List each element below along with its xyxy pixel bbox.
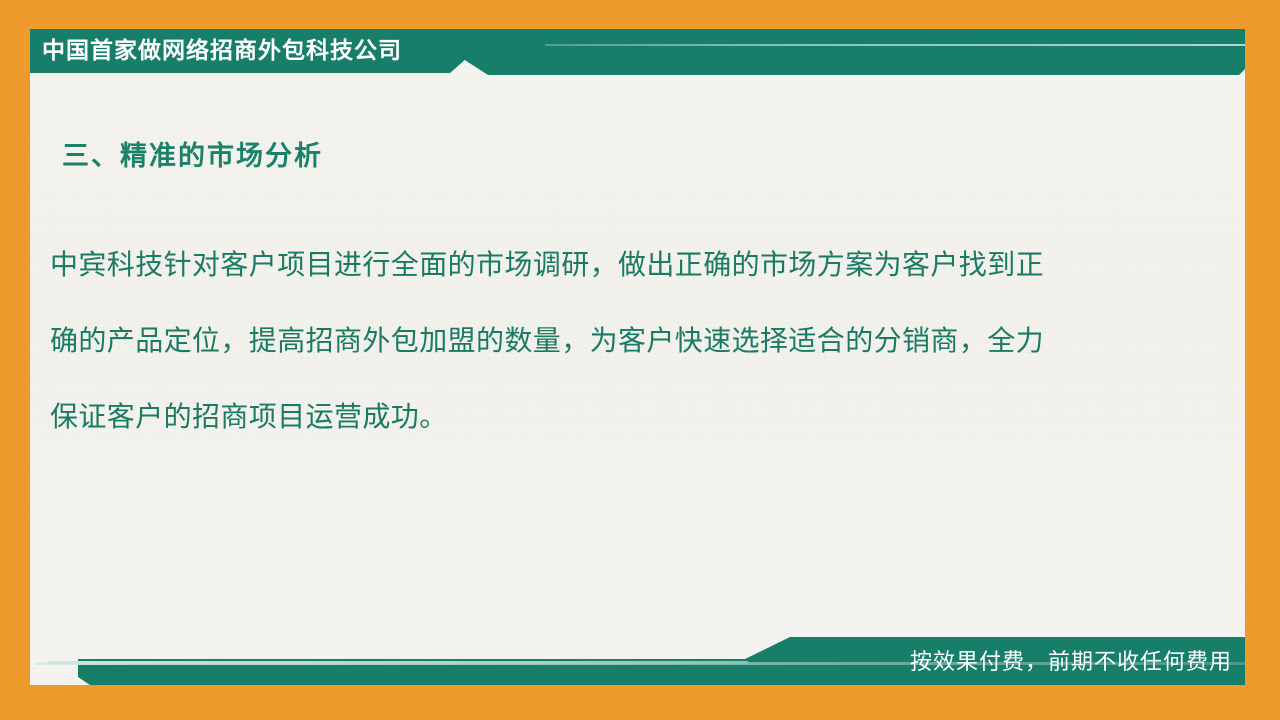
body-paragraph: 中宾科技针对客户项目进行全面的市场调研，做出正确的市场方案为客户找到正 确的产品… bbox=[50, 228, 1185, 456]
header-hairline-divider bbox=[545, 44, 1245, 46]
slide-canvas: 中国首家做网络招商外包科技公司 三、精准的市场分析 中宾科技针对客户项目进行全面… bbox=[0, 0, 1280, 720]
header-title: 中国首家做网络招商外包科技公司 bbox=[42, 33, 402, 67]
section-heading: 三、精准的市场分析 bbox=[62, 136, 323, 176]
frame-border-bottom bbox=[0, 685, 1280, 720]
body-paragraph-line-3: 保证客户的招商项目运营成功。 bbox=[50, 380, 1185, 456]
footer-short-accent-line bbox=[48, 661, 748, 664]
body-paragraph-line-1: 中宾科技针对客户项目进行全面的市场调研，做出正确的市场方案为客户找到正 bbox=[50, 228, 1185, 304]
body-paragraph-line-2: 确的产品定位，提高招商外包加盟的数量，为客户快速选择适合的分销商，全力 bbox=[50, 304, 1185, 380]
top-orange-strip bbox=[0, 0, 1280, 29]
frame-border-right bbox=[1245, 0, 1280, 720]
frame-border-left bbox=[0, 0, 30, 720]
footer-tagline: 按效果付费，前期不收任何费用 bbox=[910, 646, 1232, 678]
